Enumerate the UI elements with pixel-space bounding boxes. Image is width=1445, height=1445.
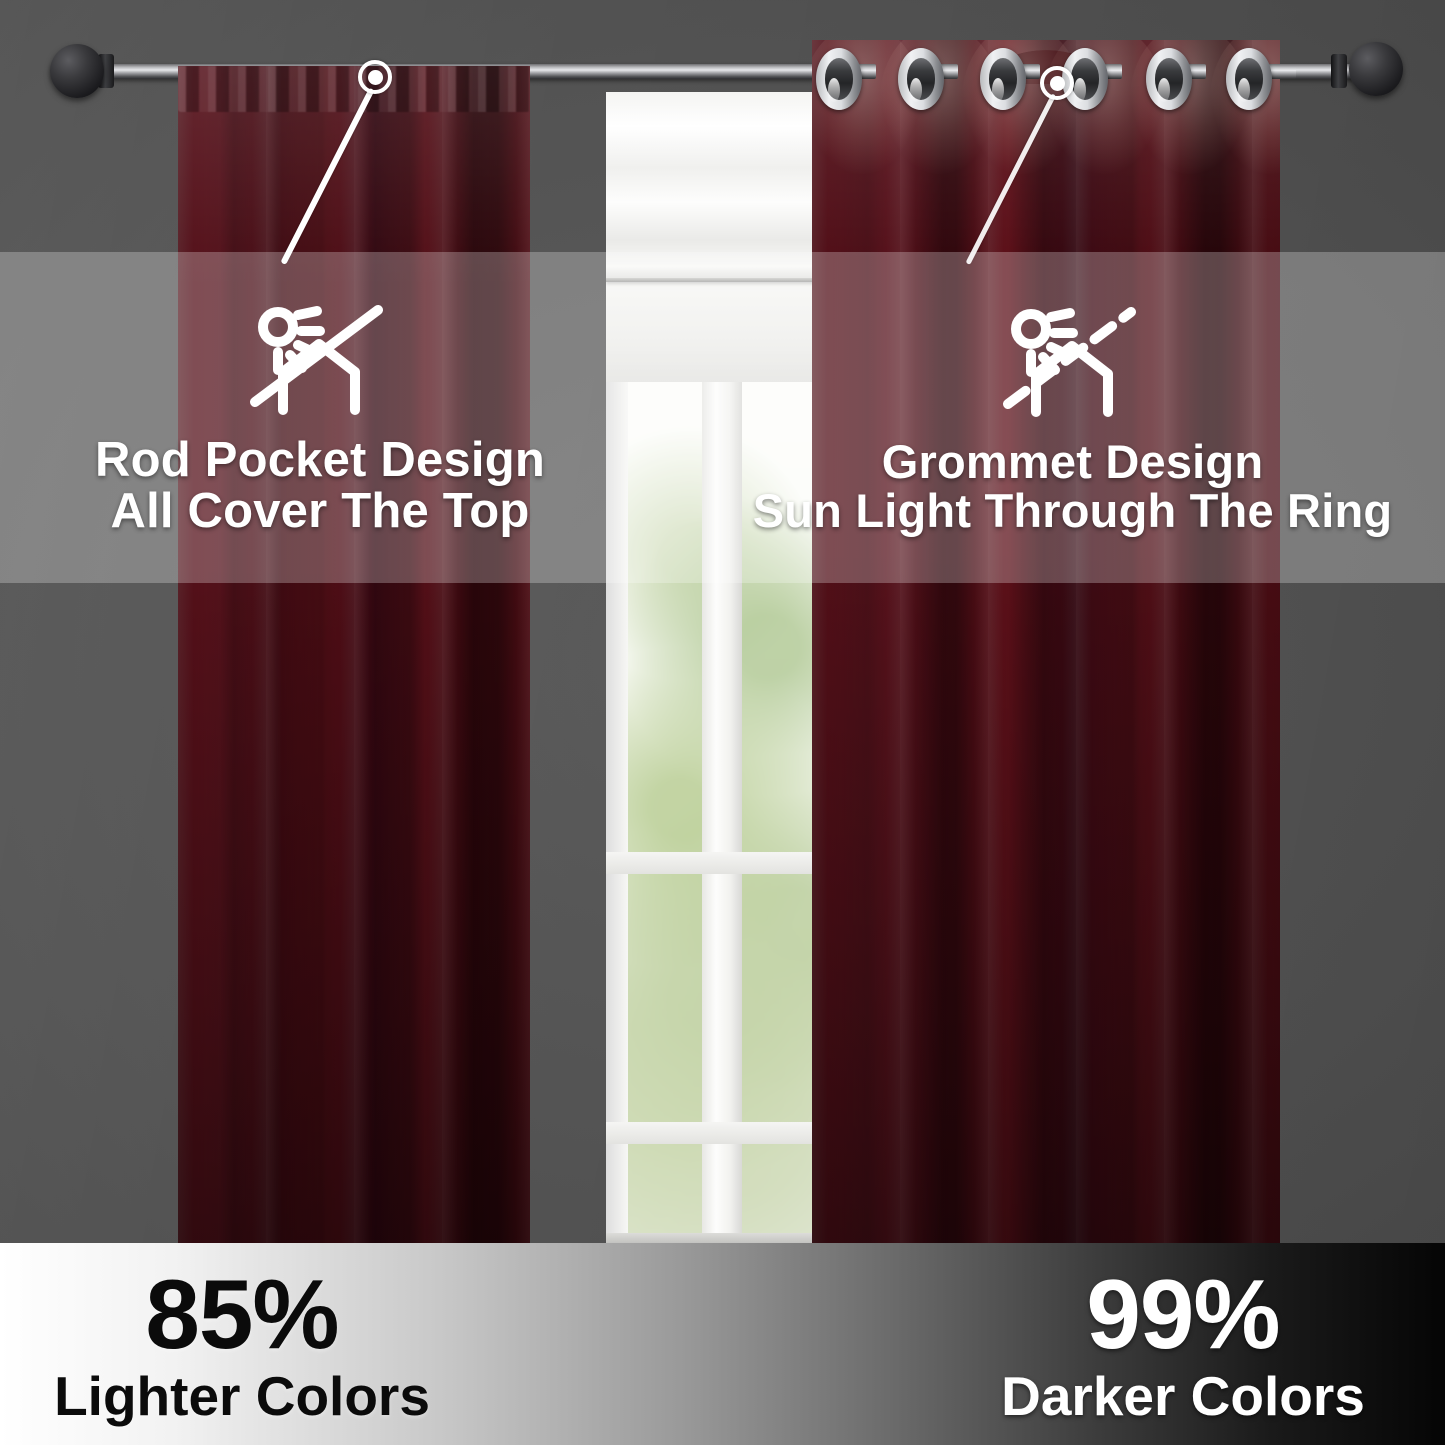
- window-muntin-lower: [606, 1122, 838, 1144]
- sun-through-house-icon: [998, 300, 1148, 423]
- ball-finial-right: [1349, 42, 1403, 96]
- feature-line: Rod Pocket Design: [95, 435, 545, 486]
- feature-line: Grommet Design: [753, 437, 1393, 486]
- grommet-highlight: [1158, 78, 1170, 102]
- curtain-panel-grommet: [812, 40, 1280, 1246]
- curtain-panel-rod-pocket: [178, 66, 530, 1246]
- grommet-highlight: [1238, 78, 1250, 102]
- grommet-ring: [898, 48, 944, 110]
- feature-grommet-text: Grommet Design Sun Light Through The Rin…: [753, 437, 1393, 536]
- grommet-highlight: [828, 78, 840, 102]
- stat-label: Darker Colors: [1001, 1369, 1365, 1424]
- grommet-ring: [1226, 48, 1272, 110]
- sun-blocked-house-icon: [245, 298, 395, 421]
- curtain-shading-right: [812, 40, 1280, 1246]
- callout-marker-grommet: [1040, 66, 1074, 100]
- stat-percent: 99%: [1086, 1265, 1279, 1363]
- grommet-highlight: [1074, 78, 1086, 102]
- grommet-highlight: [992, 78, 1004, 102]
- grommet-ring: [1146, 48, 1192, 110]
- finial-neck-right: [1331, 54, 1347, 88]
- stat-label: Lighter Colors: [54, 1369, 430, 1424]
- stat-percent: 85%: [145, 1265, 338, 1363]
- ball-finial-left: [50, 44, 104, 98]
- callout-marker-rod-pocket: [358, 60, 392, 94]
- product-infographic: Rod Pocket Design All Cover The Top Grom…: [0, 0, 1445, 1445]
- stat-darker-colors: 99% Darker Colors: [983, 1243, 1383, 1445]
- stat-lighter-colors: 85% Lighter Colors: [62, 1243, 422, 1445]
- curtain-shading-left: [178, 66, 530, 1246]
- grommet-ring: [980, 48, 1026, 110]
- feature-grommet: Grommet Design Sun Light Through The Rin…: [700, 252, 1445, 583]
- feature-line: All Cover The Top: [95, 486, 545, 537]
- grommet-ring: [816, 48, 862, 110]
- stat-banner: 85% Lighter Colors 99% Darker Colors: [0, 1243, 1445, 1445]
- feature-rod-pocket: Rod Pocket Design All Cover The Top: [0, 252, 640, 583]
- window-muntin-upper: [606, 852, 838, 874]
- feature-rod-pocket-text: Rod Pocket Design All Cover The Top: [95, 435, 545, 538]
- feature-line: Sun Light Through The Ring: [753, 486, 1393, 535]
- grommet-highlight: [910, 78, 922, 102]
